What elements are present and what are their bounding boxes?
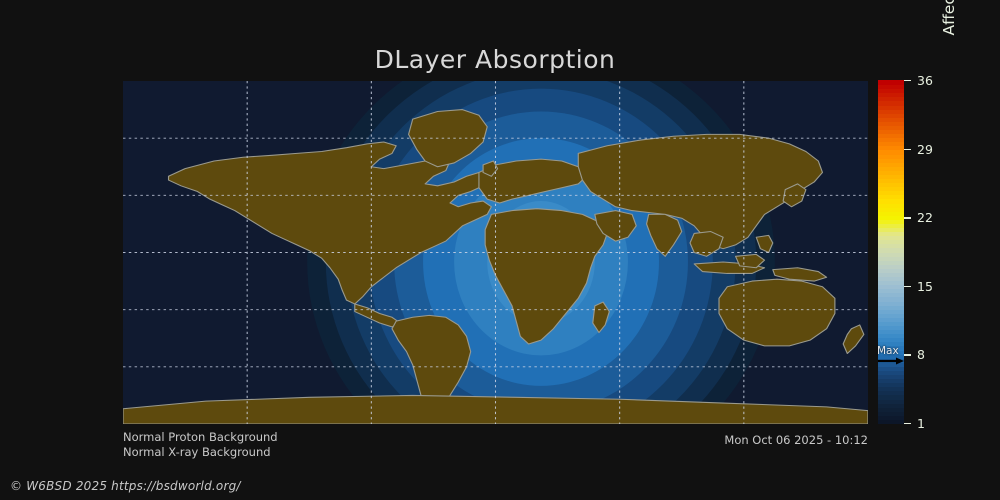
colorbar-segment (878, 178, 904, 183)
colorbar-segment (878, 162, 904, 167)
max-marker: Max (876, 346, 916, 362)
colorbar-segment (878, 170, 904, 175)
colorbar-segment (878, 240, 904, 245)
colorbar-segment (878, 313, 904, 318)
credit-line: © W6BSD 2025 https://bsdworld.org/ (10, 479, 241, 493)
colorbar-segment (878, 411, 904, 416)
colorbar-segment (878, 289, 904, 294)
colorbar-segment (878, 276, 904, 281)
colorbar-segment (878, 264, 904, 269)
map-canvas (123, 81, 868, 424)
map-axes[interactable] (123, 81, 868, 424)
colorbar-segment (878, 105, 904, 110)
colorbar-segment (878, 166, 904, 171)
colorbar-segment (878, 285, 904, 290)
colorbar-segment (878, 374, 904, 379)
colorbar-segment (878, 129, 904, 134)
colorbar-segment (878, 256, 904, 261)
colorbar-segment (878, 195, 904, 200)
colorbar-tick-mark (904, 286, 911, 287)
colorbar-segment (878, 97, 904, 102)
colorbar-gradient (878, 81, 904, 424)
colorbar-segment (878, 334, 904, 339)
note-xray-background: Normal X-ray Background (123, 445, 271, 459)
colorbar-segment (878, 101, 904, 106)
colorbar-segment (878, 199, 904, 204)
colorbar-segment (878, 297, 904, 302)
colorbar-segment (878, 134, 904, 139)
colorbar-segment (878, 113, 904, 118)
colorbar-segment (878, 117, 904, 122)
colorbar-segment (878, 293, 904, 298)
colorbar-segment (878, 391, 904, 396)
colorbar-segment (878, 85, 904, 90)
colorbar-tick-label: 36 (917, 72, 933, 90)
colorbar-segment (878, 211, 904, 216)
colorbar-tick-mark (904, 80, 911, 81)
colorbar-segment (878, 317, 904, 322)
colorbar-segment (878, 142, 904, 147)
colorbar-segment (878, 403, 904, 408)
colorbar-tick-mark (904, 149, 911, 150)
colorbar-segment (878, 138, 904, 143)
colorbar-segment (878, 301, 904, 306)
max-marker-label: Max (877, 345, 899, 357)
colorbar-segment (878, 203, 904, 208)
colorbar-segment (878, 272, 904, 277)
colorbar-segment (878, 407, 904, 412)
colorbar-segment (878, 109, 904, 114)
colorbar-segment (878, 309, 904, 314)
colorbar-segment (878, 379, 904, 384)
colorbar-segment (878, 395, 904, 400)
colorbar-segment (878, 215, 904, 220)
colorbar-segment (878, 223, 904, 228)
colorbar-segment (878, 207, 904, 212)
colorbar-segment (878, 232, 904, 237)
colorbar-segment (878, 252, 904, 257)
colorbar-segment (878, 370, 904, 375)
colorbar-tick-label: 1 (917, 415, 925, 433)
colorbar-segment (878, 387, 904, 392)
colorbar-tick-mark (904, 423, 911, 424)
colorbar-tick-label: 22 (917, 209, 933, 227)
world-map-svg (123, 81, 868, 424)
colorbar-segment (878, 248, 904, 253)
colorbar-segment (878, 260, 904, 265)
colorbar-segment (878, 383, 904, 388)
colorbar-tick-label: 29 (917, 141, 933, 159)
colorbar-segment (878, 415, 904, 420)
colorbar-segment (878, 121, 904, 126)
timestamp: Mon Oct 06 2025 - 10:12 (724, 433, 868, 447)
colorbar-segment (878, 89, 904, 94)
colorbar-segment (878, 399, 904, 404)
colorbar-segment (878, 419, 904, 424)
colorbar-segment (878, 80, 904, 85)
colorbar-segment (878, 366, 904, 371)
colorbar-tick-label: 15 (917, 278, 933, 296)
colorbar-segment (878, 236, 904, 241)
colorbar-ticks: 1815222936 (904, 81, 944, 424)
colorbar-segment (878, 93, 904, 98)
colorbar-segment (878, 281, 904, 286)
colorbar-segment (878, 325, 904, 330)
note-proton-background: Normal Proton Background (123, 430, 278, 444)
colorbar-segment (878, 154, 904, 159)
colorbar-segment (878, 321, 904, 326)
colorbar-segment (878, 244, 904, 249)
colorbar-segment (878, 187, 904, 192)
colorbar-segment (878, 268, 904, 273)
colorbar-segment (878, 191, 904, 196)
colorbar-segment (878, 125, 904, 130)
colorbar-segment (878, 305, 904, 310)
colorbar-segment (878, 158, 904, 163)
colorbar-segment (878, 150, 904, 155)
colorbar-segment (878, 146, 904, 151)
colorbar-segment (878, 330, 904, 335)
colorbar-segment (878, 338, 904, 343)
colorbar-tick-label: 8 (917, 346, 925, 364)
colorbar-tick-mark (904, 217, 911, 218)
dlayer-absorption-figure: DLayer Absorption (0, 0, 1000, 500)
page-title: DLayer Absorption (0, 45, 990, 74)
colorbar-segment (878, 219, 904, 224)
colorbar[interactable] (878, 81, 904, 424)
colorbar-segment (878, 174, 904, 179)
colorbar-axis-label: Affected Frequency (MHz) (936, 0, 962, 107)
colorbar-segment (878, 183, 904, 188)
right-arrow-icon (878, 357, 904, 365)
colorbar-segment (878, 227, 904, 232)
